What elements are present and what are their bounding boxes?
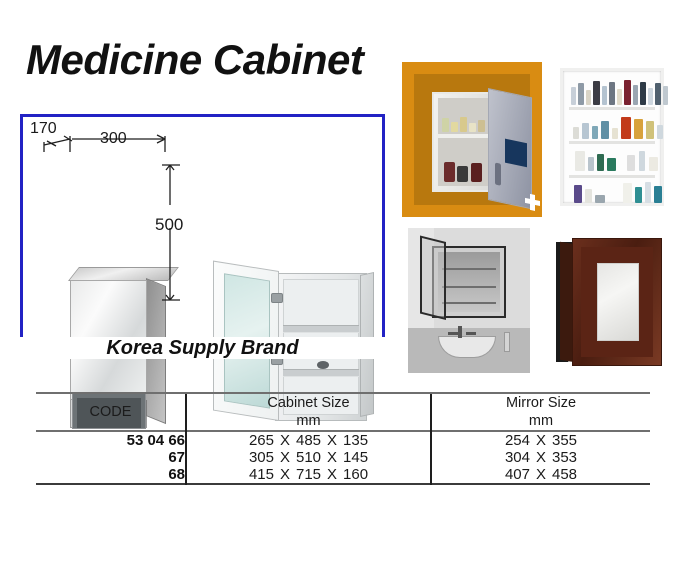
catalog-page: Medicine Cabinet [0, 0, 680, 567]
separator-x: X [274, 466, 296, 483]
header-mirror-size: Mirror Size mm [431, 393, 650, 431]
separator-x: X [530, 432, 552, 449]
header-cabinet-size: Cabinet Size mm [186, 393, 431, 431]
mirror-width: 304 [505, 449, 530, 466]
cell-code: 68 [36, 466, 186, 484]
cabinet-width: 265 [249, 432, 274, 449]
separator-x: X [321, 449, 343, 466]
page-title: Medicine Cabinet [26, 36, 363, 84]
cabinet-shelf-1 [283, 325, 359, 333]
dimension-label-depth: 170 [30, 120, 57, 138]
specification-table: CODE Cabinet Size mm Mirror Size mm 53 0… [36, 392, 650, 485]
photo-dark-wood-framed-mirror-cabinet [548, 228, 676, 374]
cabinet-height: 715 [296, 466, 321, 483]
cabinet-interior-knob [317, 361, 329, 369]
medical-cross-icon [505, 139, 527, 168]
mirror-height: 353 [552, 449, 577, 466]
cell-cabinet-size: 415X715X160 [186, 466, 431, 484]
separator-x: X [274, 432, 296, 449]
separator-x: X [321, 466, 343, 483]
bottom-rule-cabinet [186, 484, 431, 485]
shelf-row-3 [571, 145, 653, 171]
cell-code: 67 [36, 449, 186, 466]
separator-x: X [321, 432, 343, 449]
frame-bevel [581, 247, 653, 357]
cabinet-width: 415 [249, 466, 274, 483]
cell-code: 53 04 66 [36, 431, 186, 449]
product-diagram-frame [20, 114, 385, 349]
mirror-width: 407 [505, 466, 530, 483]
header-cabinet-size-unit: mm [187, 412, 430, 430]
brand-caption: Korea Supply Brand [20, 337, 385, 359]
cabinet-frame [560, 68, 664, 206]
bottom-rule-mirror [431, 484, 650, 485]
separator-x: X [274, 449, 296, 466]
separator-x: X [530, 466, 552, 483]
dimension-label-width: 300 [100, 130, 127, 148]
separator-x: X [530, 449, 552, 466]
shelf-items-top [442, 116, 490, 132]
cell-mirror-size: 254X355 [431, 431, 650, 449]
cabinet-shelf-1 [442, 268, 496, 270]
shelf-items-bottom [444, 160, 490, 182]
bottom-rule-code [36, 484, 186, 485]
dimension-label-height: 500 [155, 215, 183, 235]
table-bottom-rule-row [36, 484, 650, 485]
cabinet-shelf-1 [569, 107, 655, 110]
cell-cabinet-size: 265X485X135 [186, 431, 431, 449]
cabinet-shelf-3 [442, 302, 496, 304]
cabinet-depth: 145 [343, 449, 368, 466]
cabinet-shelf-2 [442, 286, 496, 288]
table-row: 68 415X715X160 407X458 [36, 466, 650, 484]
cabinet-open-door [420, 236, 446, 320]
header-cabinet-size-label: Cabinet Size [187, 394, 430, 412]
cabinet-depth: 160 [343, 466, 368, 483]
wood-frame-door [572, 238, 662, 366]
mirror-width: 254 [505, 432, 530, 449]
sink-faucet [458, 326, 462, 338]
table-row: 53 04 66 265X485X135 254X355 [36, 431, 650, 449]
mirror-height: 355 [552, 432, 577, 449]
cabinet-shelf-2 [569, 141, 655, 144]
photo-white-shelf-cabinet-with-bottles [552, 62, 672, 214]
shelf-row-2 [571, 113, 653, 139]
cabinet-shelf-2 [283, 369, 359, 377]
header-mirror-size-unit: mm [432, 412, 650, 430]
cabinet-top-panel [68, 267, 179, 281]
cabinet-height: 485 [296, 432, 321, 449]
header-code: CODE [36, 393, 186, 431]
mirror-panel [597, 263, 639, 341]
sink-handle-right [466, 332, 476, 335]
shelf-row-4 [571, 177, 653, 203]
cabinet-hinge-top [271, 293, 283, 303]
cell-cabinet-size: 305X510X145 [186, 449, 431, 466]
photo-white-cabinet-with-medical-cross [402, 62, 542, 217]
sink-handle-left [448, 332, 458, 335]
cabinet-height: 510 [296, 449, 321, 466]
table-row: 67 305X510X145 304X353 [36, 449, 650, 466]
cabinet-door [488, 88, 532, 209]
cabinet-interior [438, 252, 500, 312]
photo-inner-border [414, 74, 530, 205]
cell-mirror-size: 407X458 [431, 466, 650, 484]
shelf-row-1 [571, 79, 653, 105]
photo-bathroom-mirror-cabinet-over-sink [408, 228, 530, 373]
door-handle [495, 162, 501, 185]
header-mirror-size-label: Mirror Size [432, 394, 650, 412]
cabinet-depth: 135 [343, 432, 368, 449]
cell-mirror-size: 304X353 [431, 449, 650, 466]
table-header-row: CODE Cabinet Size mm Mirror Size mm [36, 393, 650, 431]
counter-bottle [504, 332, 510, 352]
cabinet-width: 305 [249, 449, 274, 466]
mirror-height: 458 [552, 466, 577, 483]
